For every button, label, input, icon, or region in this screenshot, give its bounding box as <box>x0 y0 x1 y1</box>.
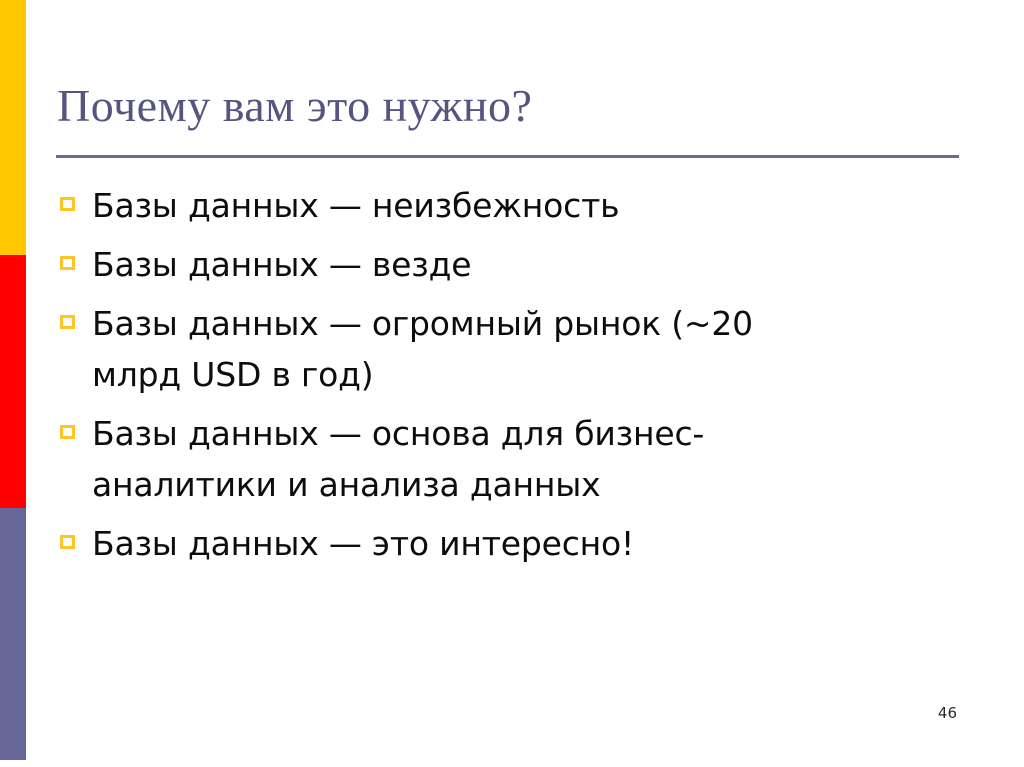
list-item: Базы данных — огромный рынок (~20 млрд U… <box>60 298 890 400</box>
list-item-label: Базы данных — основа для бизнес-аналитик… <box>92 408 832 510</box>
list-item-label: Базы данных — огромный рынок (~20 млрд U… <box>92 298 832 400</box>
list-item: Базы данных — основа для бизнес-аналитик… <box>60 408 890 510</box>
slide-title: Почему вам это нужно? <box>57 78 957 134</box>
list-item-label: Базы данных — это интересно! <box>92 518 890 569</box>
list-item: Базы данных — это интересно! <box>60 518 890 569</box>
list-item: Базы данных — везде <box>60 239 890 290</box>
square-bullet-icon <box>60 535 75 549</box>
page-number: 46 <box>938 704 957 722</box>
list-item-label: Базы данных — везде <box>92 239 890 290</box>
square-bullet-icon <box>60 315 75 329</box>
square-bullet-icon <box>60 197 75 211</box>
list-item-label: Базы данных — неизбежность <box>92 180 890 231</box>
left-accent-bar <box>0 0 26 760</box>
title-divider-rule <box>56 155 959 158</box>
slide-canvas: Почему вам это нужно? Базы данных — неиз… <box>0 0 1024 767</box>
accent-segment-yellow <box>0 0 26 255</box>
accent-segment-blue <box>0 508 26 760</box>
square-bullet-icon <box>60 256 75 270</box>
square-bullet-icon <box>60 425 75 439</box>
bullet-list: Базы данных — неизбежность Базы данных —… <box>60 180 890 577</box>
accent-segment-red <box>0 255 26 508</box>
list-item: Базы данных — неизбежность <box>60 180 890 231</box>
